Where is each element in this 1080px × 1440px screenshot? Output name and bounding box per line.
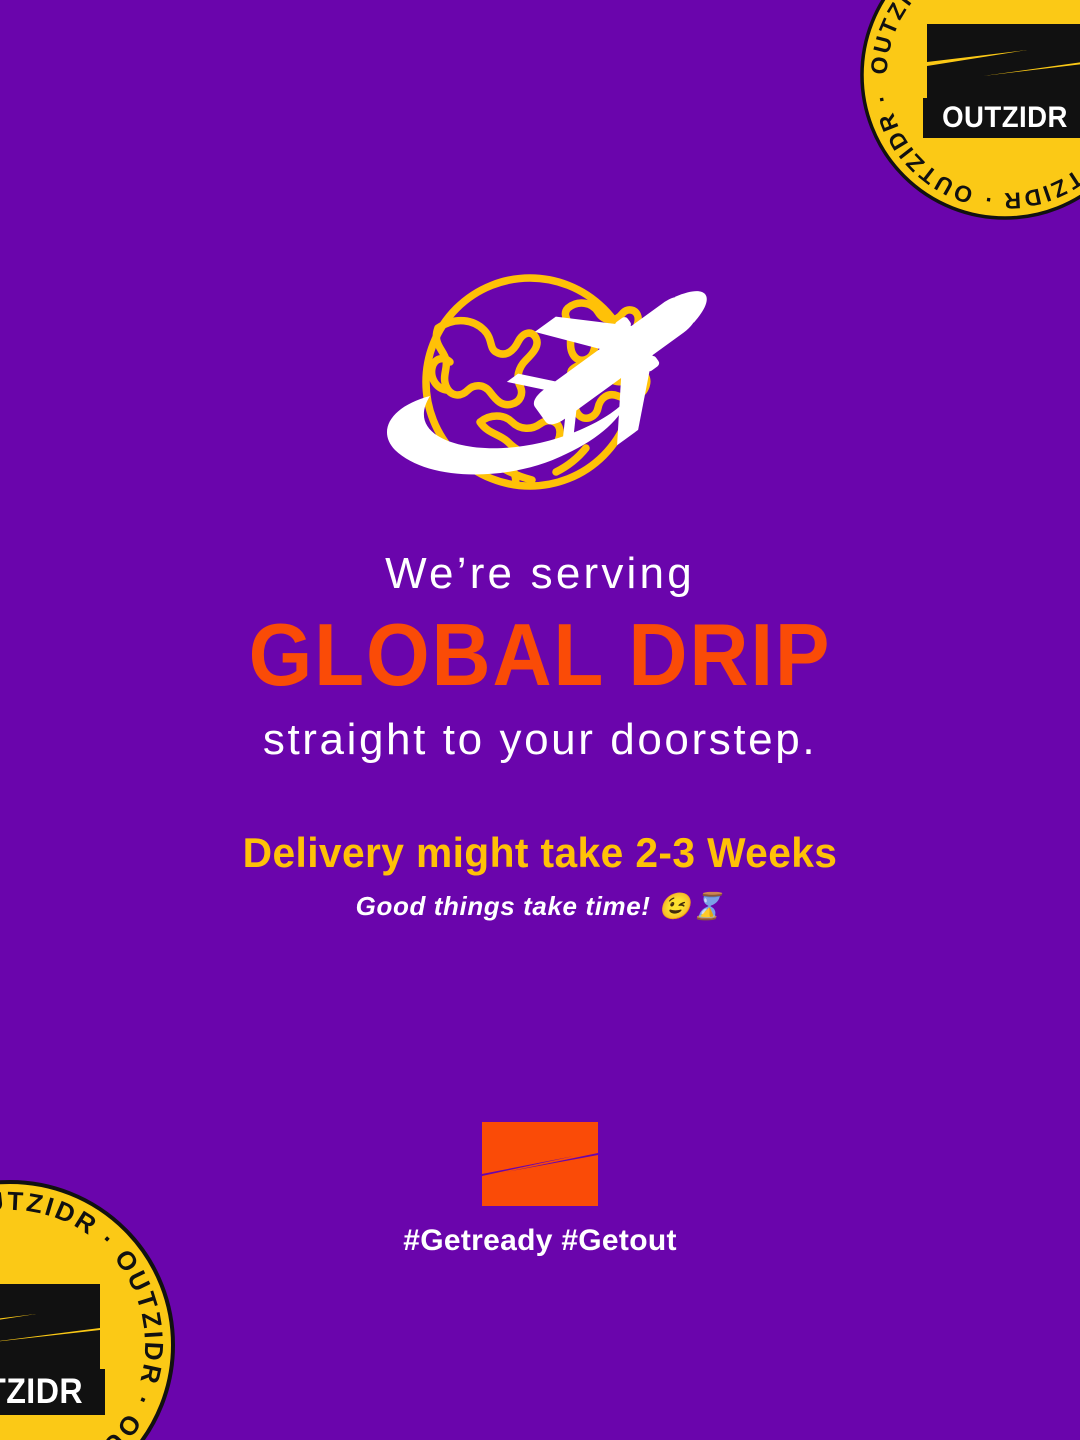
delivery-notice: Delivery might take 2-3 Weeks — [16, 829, 1064, 877]
headline-subline: straight to your doorstep. — [0, 714, 1080, 767]
headline-main: GLOBAL DRIP — [38, 606, 1042, 705]
hero-illustration — [0, 272, 1080, 512]
badge-z-mark: OUTZIDR — [0, 1284, 105, 1415]
svg-text:OUTZIDR: OUTZIDR — [942, 101, 1068, 134]
badge-z-mark: OUTZIDR — [923, 24, 1080, 138]
svg-text:OUTZIDR: OUTZIDR — [0, 1373, 83, 1412]
delivery-subnote: Good things take time! 😉⌛ — [0, 891, 1080, 922]
airplane-icon — [493, 272, 720, 476]
copy-block: We’re serving GLOBAL DRIP straight to yo… — [0, 548, 1080, 922]
hashtags: #Getready #Getout — [403, 1224, 677, 1258]
outzidr-z-logo — [478, 1120, 602, 1208]
globe-with-airplane-icon — [360, 272, 720, 512]
headline-kicker: We’re serving — [0, 548, 1080, 600]
poster-canvas: OUTZIDR · OUTZIDR · OUTZIDR · OUTZIDR · … — [0, 0, 1080, 1440]
footer-block: #Getready #Getout — [0, 1120, 1080, 1258]
outzidr-badge-top-right: OUTZIDR · OUTZIDR · OUTZIDR · OUTZIDR · … — [860, 0, 1080, 220]
